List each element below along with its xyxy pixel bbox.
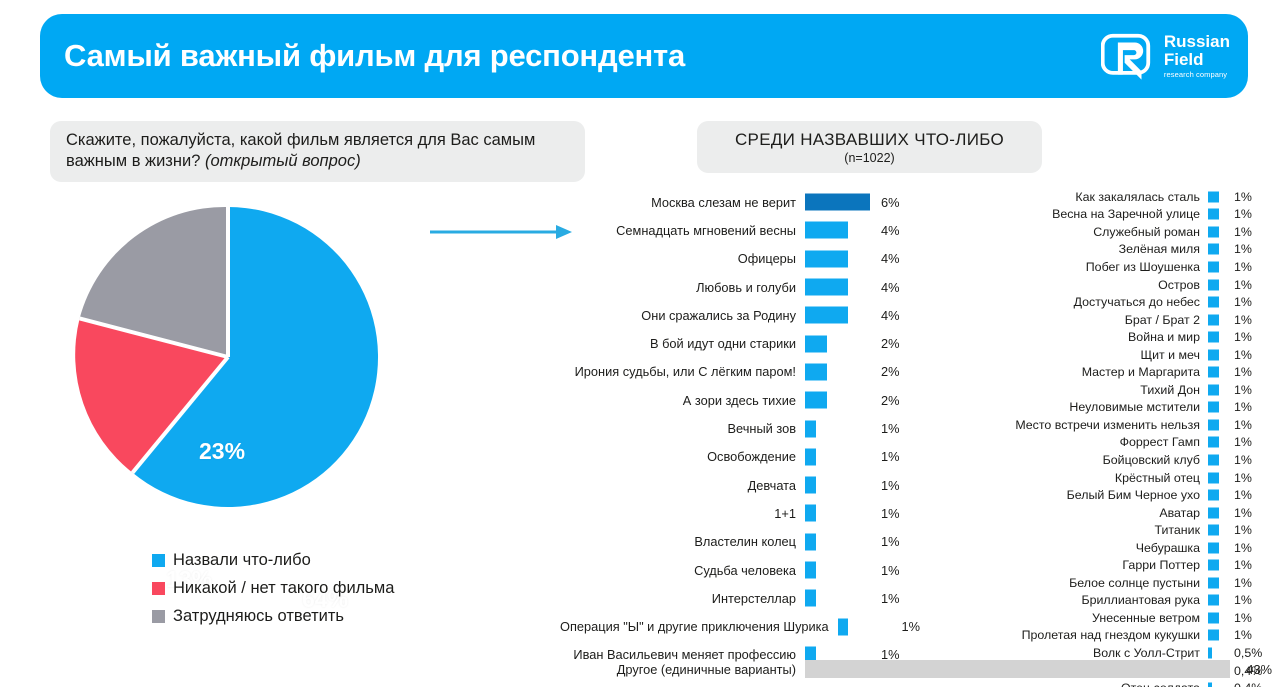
list-item-value: 1% xyxy=(1234,628,1270,642)
brand-line-2: Field xyxy=(1164,51,1230,69)
legend-label: Никакой / нет такого фильма xyxy=(173,579,394,598)
list-item-value: 1% xyxy=(1234,348,1270,362)
list-item[interactable]: Крёстный отец1% xyxy=(960,469,1270,487)
other-answers-bar-cell xyxy=(805,657,1230,681)
list-item-bar xyxy=(1208,507,1219,518)
bar-row-value: 4% xyxy=(875,251,900,266)
list-item-value: 1% xyxy=(1234,558,1270,572)
bar-row-value: 2% xyxy=(875,393,900,408)
list-item-bar xyxy=(1208,595,1219,606)
list-item[interactable]: Как закалялась сталь1% xyxy=(960,188,1270,206)
bar-row-label: Властелин колец xyxy=(560,534,805,549)
list-item-label: Белый Бим Черное ухо xyxy=(960,488,1208,502)
list-item-bar-cell xyxy=(1208,346,1234,364)
bar-row-value: 1% xyxy=(875,563,900,578)
russian-field-logo-icon xyxy=(1101,29,1155,83)
list-item[interactable]: Весна на Заречной улице1% xyxy=(960,206,1270,224)
bar-row-bar xyxy=(838,618,849,635)
list-item[interactable]: Чебурашка1% xyxy=(960,539,1270,557)
list-item-value: 1% xyxy=(1234,576,1270,590)
list-item-label: Война и мир xyxy=(960,330,1208,344)
list-item-bar xyxy=(1208,209,1219,220)
list-item-bar-cell xyxy=(1208,258,1234,276)
bar-row-bar-cell xyxy=(805,584,875,612)
list-item-value: 1% xyxy=(1234,330,1270,344)
bar-row-label: Девчата xyxy=(560,478,805,493)
other-answers-row[interactable]: Другое (единичные варианты) 43% xyxy=(560,657,1272,681)
legend-swatch-icon xyxy=(152,582,165,595)
list-item-label: Крёстный отец xyxy=(960,471,1208,485)
subgroup-header-box: СРЕДИ НАЗВАВШИХ ЧТО-ЛИБО (n=1022) xyxy=(697,121,1042,173)
legend-label: Затрудняюсь ответить xyxy=(173,607,344,626)
list-item[interactable]: Форрест Гамп1% xyxy=(960,434,1270,452)
list-item-bar-cell xyxy=(1208,539,1234,557)
list-item-label: Щит и меч xyxy=(960,348,1208,362)
bar-row[interactable]: 1+11% xyxy=(560,499,920,527)
bar-row[interactable]: Семнадцать мгновений весны4% xyxy=(560,216,920,244)
brand-line-1: Russian xyxy=(1164,33,1230,51)
list-item-value: 1% xyxy=(1234,207,1270,221)
list-item-bar xyxy=(1208,349,1219,360)
bar-row-label: Москва слезам не верит xyxy=(560,195,805,210)
list-item[interactable]: Тихий Дон1% xyxy=(960,381,1270,399)
list-item-bar-cell xyxy=(1208,381,1234,399)
legend-label: Назвали что-либо xyxy=(173,551,311,570)
list-item-value: 1% xyxy=(1234,523,1270,537)
list-item-label: Служебный роман xyxy=(960,225,1208,239)
list-item-bar-cell xyxy=(1208,469,1234,487)
bar-row-bar-cell xyxy=(805,471,875,499)
list-item-value: 1% xyxy=(1234,242,1270,256)
legend-swatch-icon xyxy=(152,610,165,623)
list-item-label: Унесенные ветром xyxy=(960,611,1208,625)
bar-row-value: 4% xyxy=(875,223,900,238)
list-item-bar xyxy=(1208,437,1219,448)
list-item-bar-cell xyxy=(1208,311,1234,329)
bar-row-bar-cell xyxy=(805,556,875,584)
list-item-bar-cell xyxy=(1208,293,1234,311)
bar-row-label: Они сражались за Родину xyxy=(560,308,805,323)
list-item-bar xyxy=(1208,384,1219,395)
bar-row-value: 1% xyxy=(875,478,900,493)
list-item[interactable]: Белый Бим Черное ухо1% xyxy=(960,486,1270,504)
list-item-bar xyxy=(1208,367,1219,378)
bar-row[interactable]: Девчата1% xyxy=(560,471,920,499)
list-item[interactable]: Щит и меч1% xyxy=(960,346,1270,364)
bar-row-bar xyxy=(805,279,848,296)
bar-row-bar-cell xyxy=(805,245,875,273)
list-item-bar xyxy=(1208,279,1219,290)
list-item-label: Остров xyxy=(960,278,1208,292)
list-item-bar-cell xyxy=(1208,609,1234,627)
list-item-bar xyxy=(1208,630,1219,641)
list-item-bar-cell xyxy=(1208,627,1234,645)
list-item-label: Весна на Заречной улице xyxy=(960,207,1208,221)
list-item-bar xyxy=(1208,490,1219,501)
bar-row-label: В бой идут одни старики xyxy=(560,336,805,351)
list-item[interactable]: Зелёная миля1% xyxy=(960,241,1270,259)
list-item-value: 1% xyxy=(1234,453,1270,467)
list-item-label: Форрест Гамп xyxy=(960,435,1208,449)
list-item-value: 1% xyxy=(1234,488,1270,502)
bar-row-bar-cell xyxy=(805,499,875,527)
list-item-label: Зелёная миля xyxy=(960,242,1208,256)
main-bar-chart: Москва слезам не верит6%Семнадцать мгнов… xyxy=(560,188,920,669)
other-answers-value: 43% xyxy=(1230,662,1272,677)
question-text: Скажите, пожалуйста, какой фильм являетс… xyxy=(66,130,569,172)
list-item[interactable]: Место встречи изменить нельзя1% xyxy=(960,416,1270,434)
list-item[interactable]: Побег из Шоушенка1% xyxy=(960,258,1270,276)
list-item-bar xyxy=(1208,314,1219,325)
list-item-label: Достучаться до небес xyxy=(960,295,1208,309)
list-item-value: 1% xyxy=(1234,435,1270,449)
bar-row-label: Любовь и голуби xyxy=(560,280,805,295)
list-item-value: 1% xyxy=(1234,418,1270,432)
bar-row-label: Вечный зов xyxy=(560,421,805,436)
bar-row-value: 1% xyxy=(875,449,900,464)
bar-row[interactable]: Москва слезам не верит6% xyxy=(560,188,920,216)
list-item[interactable]: Бриллиантовая рука1% xyxy=(960,592,1270,610)
list-item-value: 1% xyxy=(1234,225,1270,239)
list-item-value: 1% xyxy=(1234,295,1270,309)
list-item-bar-cell xyxy=(1208,223,1234,241)
bar-row[interactable]: Офицеры4% xyxy=(560,245,920,273)
list-item-label: Чебурашка xyxy=(960,541,1208,555)
list-item[interactable]: Война и мир1% xyxy=(960,328,1270,346)
bar-row[interactable]: Операция "Ы" и другие приключения Шурика… xyxy=(560,612,920,640)
bar-row-bar-cell xyxy=(805,528,875,556)
list-item-value: 1% xyxy=(1234,278,1270,292)
bar-row[interactable]: В бой идут одни старики2% xyxy=(560,329,920,357)
bar-row[interactable]: Они сражались за Родину4% xyxy=(560,301,920,329)
bar-row-label: Офицеры xyxy=(560,251,805,266)
bar-row-value: 2% xyxy=(875,336,900,351)
bar-row-label: Интерстеллар xyxy=(560,591,805,606)
list-item-label: Как закалялась сталь xyxy=(960,190,1208,204)
brand-logo-text: Russian Field research company xyxy=(1164,33,1230,79)
bar-row[interactable]: Судьба человека1% xyxy=(560,556,920,584)
bar-row-value: 1% xyxy=(875,591,900,606)
list-item-bar-cell xyxy=(1208,188,1234,206)
list-item[interactable]: Служебный роман1% xyxy=(960,223,1270,241)
bar-row-bar xyxy=(805,420,816,437)
bar-row-bar xyxy=(805,250,848,267)
bar-row-bar-cell xyxy=(805,301,875,329)
list-item-bar-cell xyxy=(1208,521,1234,539)
list-item-bar xyxy=(1208,542,1219,553)
brand-logo: Russian Field research company xyxy=(1101,29,1230,83)
list-item-bar-cell xyxy=(1208,434,1234,452)
page-title: Самый важный фильм для респондента xyxy=(64,38,685,74)
list-item-label: Аватар xyxy=(960,506,1208,520)
list-item[interactable]: Унесенные ветром1% xyxy=(960,609,1270,627)
list-item-value: 1% xyxy=(1234,611,1270,625)
bar-row[interactable]: Вечный зов1% xyxy=(560,414,920,442)
list-item-label: Титаник xyxy=(960,523,1208,537)
pie-legend: Назвали что-либо Никакой / нет такого фи… xyxy=(152,546,394,630)
bar-row-bar xyxy=(805,533,816,550)
bar-row-label: Операция "Ы" и другие приключения Шурика xyxy=(560,619,838,634)
bar-row-value: 4% xyxy=(875,280,900,295)
bar-row[interactable]: Интерстеллар1% xyxy=(560,584,920,612)
legend-item-hard[interactable]: Затрудняюсь ответить xyxy=(152,602,394,630)
list-item-label: Бриллиантовая рука xyxy=(960,593,1208,607)
list-item-bar-cell xyxy=(1208,504,1234,522)
bar-row-value: 1% xyxy=(896,619,921,634)
bar-row[interactable]: А зори здесь тихие2% xyxy=(560,386,920,414)
list-item[interactable]: Мастер и Маргарита1% xyxy=(960,363,1270,381)
other-answers-bar xyxy=(805,660,1230,678)
bar-row-label: Семнадцать мгновений весны xyxy=(560,223,805,238)
legend-item-none[interactable]: Никакой / нет такого фильма xyxy=(152,574,394,602)
list-item-label: Пролетая над гнездом кукушки xyxy=(960,628,1208,642)
list-item[interactable]: Остров1% xyxy=(960,276,1270,294)
list-item-value: 1% xyxy=(1234,541,1270,555)
bar-row-bar-cell xyxy=(805,329,875,357)
bar-row-bar-cell xyxy=(805,216,875,244)
secondary-bar-chart: Как закалялась сталь1%Весна на Заречной … xyxy=(960,188,1270,687)
bar-row-bar-cell xyxy=(805,188,875,216)
bar-row-bar-cell xyxy=(805,386,875,414)
list-item-value: 0,4% xyxy=(1234,681,1270,687)
list-item-bar xyxy=(1208,683,1212,687)
list-item[interactable]: Бойцовский клуб1% xyxy=(960,451,1270,469)
bar-row-bar-cell xyxy=(805,358,875,386)
bar-row-value: 6% xyxy=(875,195,900,210)
bar-row-bar xyxy=(805,194,870,211)
pie-label-hard: 23% xyxy=(199,438,245,465)
list-item[interactable]: Белое солнце пустыни1% xyxy=(960,574,1270,592)
list-item-label: Отец солдата xyxy=(960,681,1208,687)
list-item-bar xyxy=(1208,261,1219,272)
list-item-bar-cell xyxy=(1208,416,1234,434)
list-item[interactable]: Гарри Поттер1% xyxy=(960,556,1270,574)
bar-row-bar xyxy=(805,392,827,409)
bar-row-label: Освобождение xyxy=(560,449,805,464)
list-item-label: Белое солнце пустыни xyxy=(960,576,1208,590)
bar-row-bar xyxy=(805,505,816,522)
bar-row-value: 1% xyxy=(875,534,900,549)
bar-row-value: 1% xyxy=(875,421,900,436)
subgroup-title: СРЕДИ НАЗВАВШИХ ЧТО-ЛИБО xyxy=(735,130,1004,150)
bar-row-bar xyxy=(805,307,848,324)
list-item-bar xyxy=(1208,472,1219,483)
list-item-value: 1% xyxy=(1234,260,1270,274)
bar-row-bar-cell xyxy=(805,414,875,442)
list-item[interactable]: Пролетая над гнездом кукушки1% xyxy=(960,627,1270,645)
list-item-label: Мастер и Маргарита xyxy=(960,365,1208,379)
list-item-bar xyxy=(1208,525,1219,536)
bar-row[interactable]: Ирония судьбы, или С лёгким паром!2% xyxy=(560,358,920,386)
list-item-bar xyxy=(1208,454,1219,465)
list-item[interactable]: Брат / Брат 21% xyxy=(960,311,1270,329)
bar-row-value: 1% xyxy=(875,506,900,521)
list-item-bar-cell xyxy=(1208,574,1234,592)
bar-row-bar xyxy=(805,590,816,607)
bar-row-bar-cell xyxy=(805,273,875,301)
list-item-label: Тихий Дон xyxy=(960,383,1208,397)
list-item-bar-cell xyxy=(1208,592,1234,610)
bar-row-bar xyxy=(805,222,848,239)
list-item-label: Побег из Шоушенка xyxy=(960,260,1208,274)
list-item-value: 1% xyxy=(1234,506,1270,520)
list-item-value: 1% xyxy=(1234,313,1270,327)
list-item-bar-cell xyxy=(1208,451,1234,469)
list-item-value: 1% xyxy=(1234,383,1270,397)
other-answers-label: Другое (единичные варианты) xyxy=(560,662,805,677)
bar-row-bar xyxy=(805,448,816,465)
question-text-italic: (открытый вопрос) xyxy=(205,152,361,170)
bar-row-label: 1+1 xyxy=(560,506,805,521)
list-item-bar xyxy=(1208,226,1219,237)
list-item-bar-cell xyxy=(1208,399,1234,417)
brand-tagline: research company xyxy=(1164,71,1230,79)
subgroup-sample-size: (n=1022) xyxy=(844,151,894,165)
pie-chart-svg xyxy=(68,197,388,517)
list-item-label: Бойцовский клуб xyxy=(960,453,1208,467)
legend-swatch-icon xyxy=(152,554,165,567)
list-item-bar xyxy=(1208,419,1219,430)
list-item-label: Гарри Поттер xyxy=(960,558,1208,572)
bar-row-label: А зори здесь тихие xyxy=(560,393,805,408)
list-item-value: 1% xyxy=(1234,471,1270,485)
bar-row-label: Судьба человека xyxy=(560,563,805,578)
question-box: Скажите, пожалуйста, какой фильм являетс… xyxy=(50,121,585,182)
list-item-bar xyxy=(1208,577,1219,588)
list-item-bar xyxy=(1208,332,1219,343)
bar-row-bar xyxy=(805,562,816,579)
list-item-bar-cell xyxy=(1208,328,1234,346)
bar-row[interactable]: Любовь и голуби4% xyxy=(560,273,920,301)
list-item[interactable]: Титаник1% xyxy=(960,521,1270,539)
bar-row-bar-cell xyxy=(805,443,875,471)
list-item-label: Брат / Брат 2 xyxy=(960,313,1208,327)
list-item-bar xyxy=(1208,191,1219,202)
bar-row[interactable]: Освобождение1% xyxy=(560,443,920,471)
bar-row-label: Ирония судьбы, или С лёгким паром! xyxy=(560,364,805,379)
bar-row-bar xyxy=(805,335,827,352)
list-item-bar-cell xyxy=(1208,363,1234,381)
list-item-bar xyxy=(1208,297,1219,308)
list-item[interactable]: Аватар1% xyxy=(960,504,1270,522)
list-item-bar-cell xyxy=(1208,241,1234,259)
slide-root: Самый важный фильм для респондента Russi… xyxy=(0,0,1280,687)
flow-arrow-icon xyxy=(428,216,578,248)
list-item-value: 1% xyxy=(1234,400,1270,414)
slide-header: Самый важный фильм для респондента Russi… xyxy=(40,14,1248,98)
list-item-bar-cell xyxy=(1208,556,1234,574)
bar-row-bar-cell xyxy=(838,612,896,640)
list-item-bar-cell xyxy=(1208,276,1234,294)
bar-row-bar xyxy=(805,477,816,494)
list-item-bar-cell xyxy=(1208,486,1234,504)
list-item-label: Место встречи изменить нельзя xyxy=(960,418,1208,432)
bar-row[interactable]: Властелин колец1% xyxy=(560,528,920,556)
list-item-bar-cell xyxy=(1208,206,1234,224)
list-item-value: 1% xyxy=(1234,190,1270,204)
list-item-label: Неуловимые мстители xyxy=(960,400,1208,414)
list-item-bar xyxy=(1208,402,1219,413)
list-item-value: 1% xyxy=(1234,365,1270,379)
bar-row-bar xyxy=(805,363,827,380)
list-item-bar xyxy=(1208,244,1219,255)
bar-row-value: 2% xyxy=(875,364,900,379)
pie-chart: 64% 13% 23% xyxy=(50,195,450,515)
list-item-bar xyxy=(1208,560,1219,571)
list-item[interactable]: Достучаться до небес1% xyxy=(960,293,1270,311)
bar-row-value: 4% xyxy=(875,308,900,323)
list-item-value: 1% xyxy=(1234,593,1270,607)
list-item[interactable]: Неуловимые мстители1% xyxy=(960,399,1270,417)
legend-item-named[interactable]: Назвали что-либо xyxy=(152,546,394,574)
list-item-bar xyxy=(1208,612,1219,623)
